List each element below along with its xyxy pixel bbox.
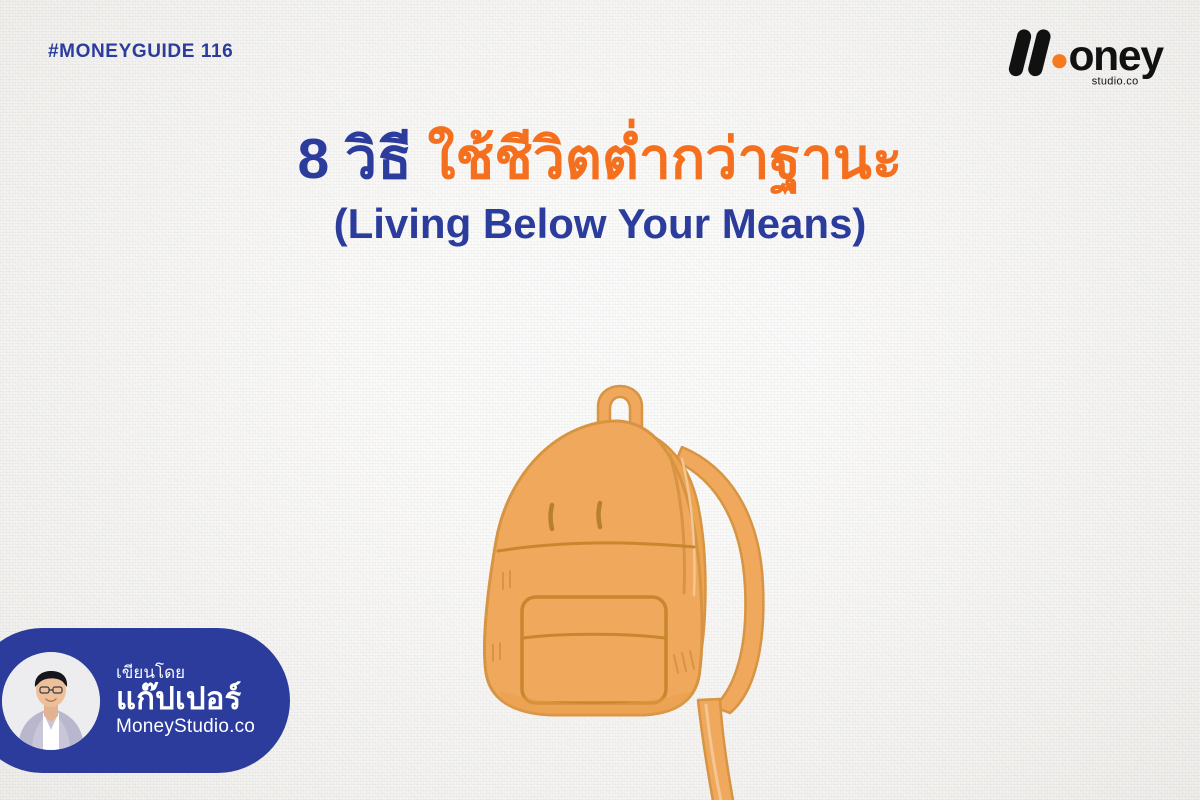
backpack-eyelet-left	[551, 505, 553, 529]
headline-segment-navy: 8 วิธี	[298, 127, 428, 191]
poster-canvas: #MONEYGUIDE 116 oney studio.co 8 วิธี ใช…	[0, 0, 1200, 800]
backpack-main-body	[484, 421, 702, 715]
headline-block: 8 วิธี ใช้ชีวิตต่ำกว่าฐานะ (Living Below…	[0, 128, 1200, 248]
logo-wordmark: oney	[1068, 32, 1164, 80]
backpack-eyelet-right	[599, 503, 601, 527]
headline-thai: 8 วิธี ใช้ชีวิตต่ำกว่าฐานะ	[0, 128, 1200, 192]
hashtag-label: #MONEYGUIDE 116	[48, 41, 233, 63]
brand-logo[interactable]: oney studio.co	[1008, 25, 1178, 87]
author-site: MoneyStudio.co	[116, 717, 255, 737]
author-text-block: เขียนโดย แก๊ปเปอร์ MoneyStudio.co	[116, 664, 255, 737]
author-name: แก๊ปเปอร์	[116, 683, 255, 716]
author-avatar	[2, 652, 100, 750]
headline-english: (Living Below Your Means)	[0, 200, 1200, 248]
author-badge[interactable]: เขียนโดย แก๊ปเปอร์ MoneyStudio.co	[0, 628, 290, 773]
orange-dot-icon	[1052, 54, 1066, 68]
backpack-illustration	[430, 355, 830, 800]
headline-segment-orange: ใช้ชีวิตต่ำกว่าฐานะ	[428, 127, 903, 191]
m-monogram-icon	[1008, 28, 1052, 78]
logo-tagline: studio.co	[1092, 75, 1139, 87]
author-prefix-label: เขียนโดย	[116, 664, 255, 682]
